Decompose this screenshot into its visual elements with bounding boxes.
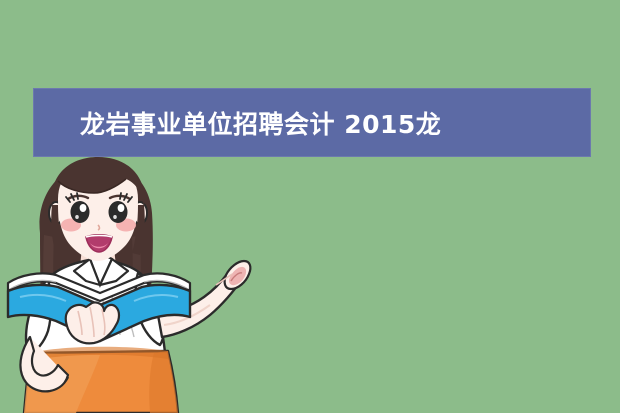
title-banner: 龙岩事业单位招聘会计 2015龙 — [33, 88, 591, 157]
character-illustration — [0, 155, 300, 413]
page-title: 龙岩事业单位招聘会计 2015龙 — [80, 105, 441, 141]
image-canvas: 龙岩事业单位招聘会计 2015龙 — [0, 0, 620, 413]
